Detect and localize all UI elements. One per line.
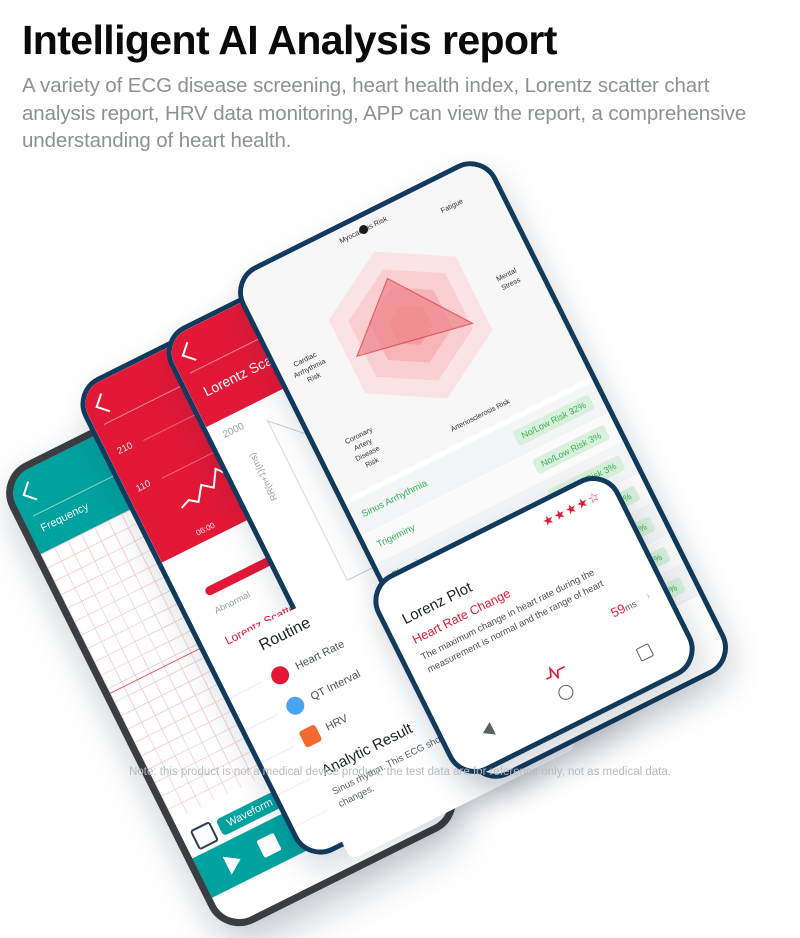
frequency-label: Frequency	[39, 501, 91, 535]
back-chevron-icon[interactable]	[22, 481, 41, 500]
disclaimer-note: Note: this product is not a medical devi…	[0, 766, 800, 778]
clock-icon	[283, 694, 307, 718]
hr-axis-210: 210	[115, 440, 134, 457]
play-icon[interactable]	[223, 850, 245, 875]
heart-rate-change-value: 59ms	[608, 595, 638, 620]
nav-back-triangle-icon[interactable]	[480, 722, 496, 739]
back-chevron-icon[interactable]	[182, 342, 201, 361]
nav-home-circle-icon[interactable]	[556, 682, 576, 702]
hr-x-start: 06:00	[194, 521, 216, 538]
stop-icon[interactable]	[256, 832, 281, 857]
heart-pulse-icon	[268, 663, 292, 687]
rating-stars: ★★★★☆	[540, 488, 604, 531]
risk-name: Trigeminy	[375, 522, 417, 550]
chart-icon	[298, 724, 322, 748]
page-subtitle: A variety of ECG disease screening, hear…	[22, 72, 782, 154]
page-root: Intelligent AI Analysis report A variety…	[0, 0, 800, 800]
header: Intelligent AI Analysis report A variety…	[22, 18, 782, 155]
phone-mockup-stack: Frequency 512Hz Waveform	[0, 175, 800, 755]
routine-item-hrv[interactable]: HRV	[298, 710, 351, 748]
abnormal-label: Abnormal	[213, 589, 252, 615]
routine-item-label: QT Interval	[309, 668, 363, 703]
nav-recents-square-icon[interactable]	[635, 643, 654, 662]
chevron-right-icon[interactable]: ›	[644, 590, 653, 602]
routine-item-label: HRV	[324, 712, 350, 733]
hr-axis-110: 110	[134, 478, 152, 495]
back-chevron-icon[interactable]	[95, 393, 114, 412]
page-title: Intelligent AI Analysis report	[22, 18, 782, 62]
routine-item-label: Heart Rate	[294, 638, 347, 672]
radar-label-fatigue: Fatigue	[439, 196, 464, 215]
